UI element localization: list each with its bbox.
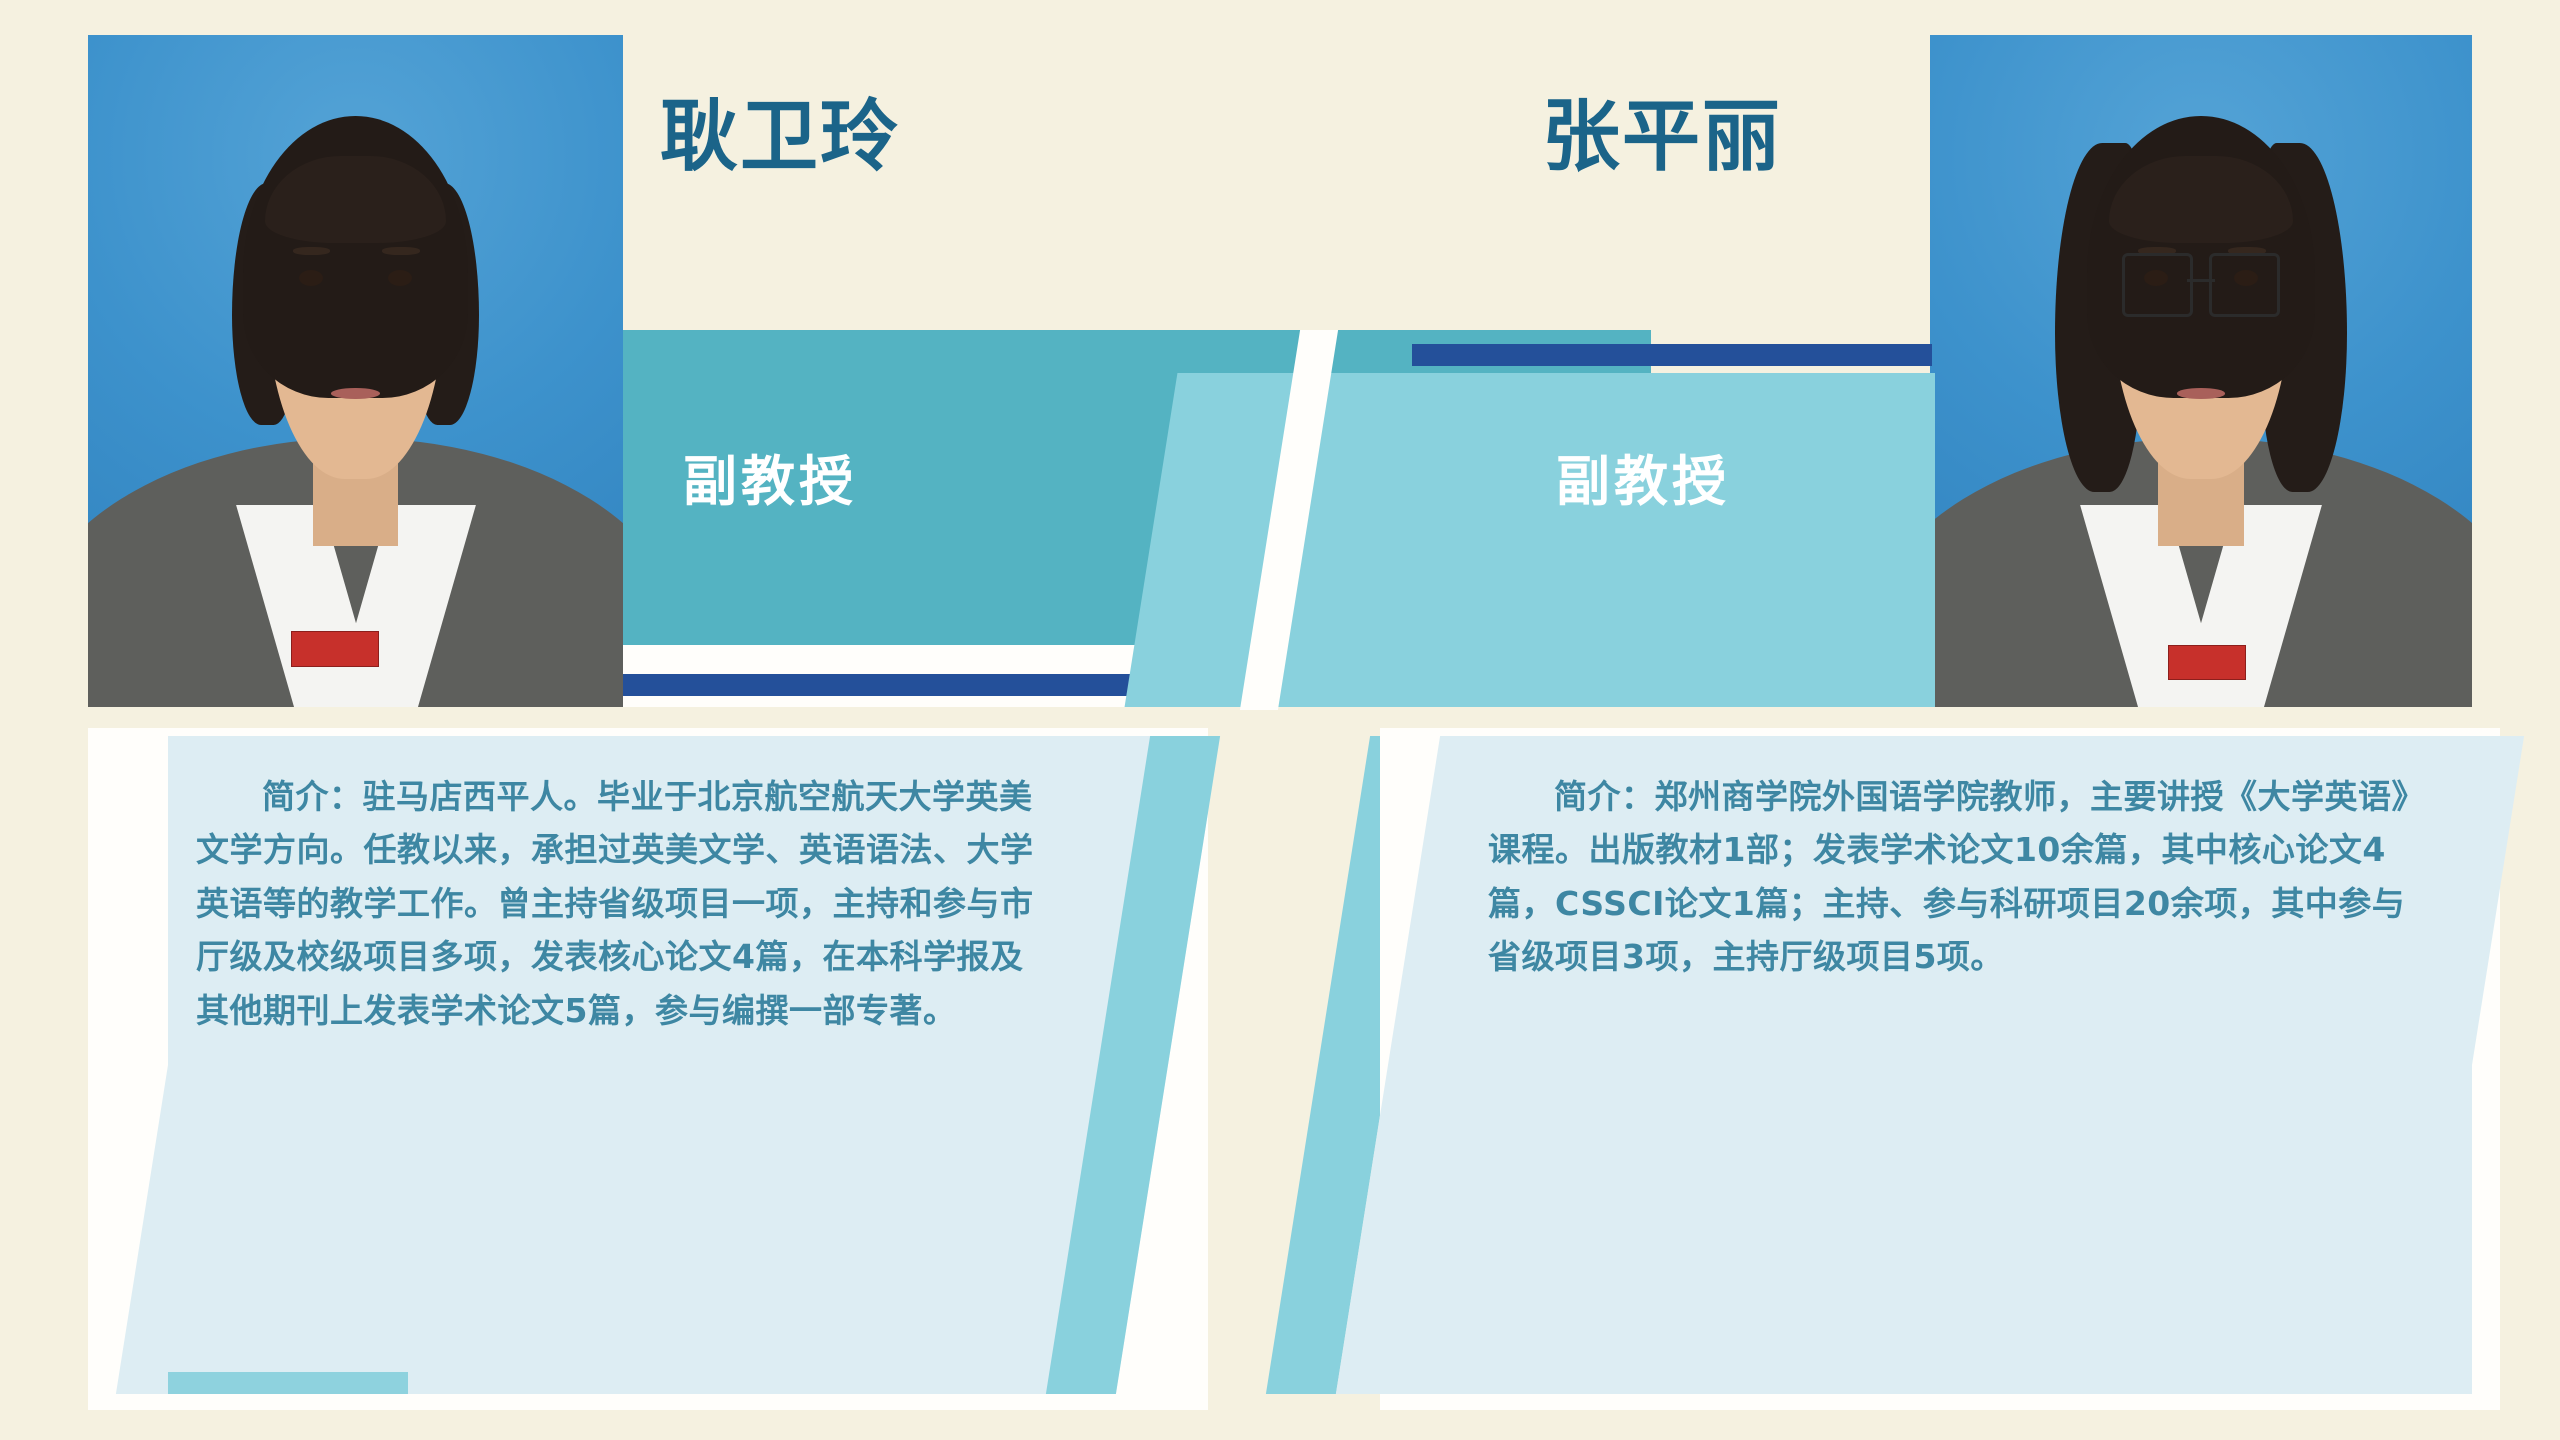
title-plate-right (1345, 373, 1935, 707)
portrait-photo-right (1930, 35, 2472, 707)
accent-bar-right (1412, 344, 1932, 366)
photo-name-badge-left (291, 631, 379, 667)
profile-name-left: 耿卫玲 (660, 98, 900, 176)
photo-eye-right-left (388, 270, 412, 286)
photo-brow-right-left (382, 247, 419, 256)
portrait-photo-left (88, 35, 623, 707)
glasses-bridge (2187, 279, 2215, 282)
profile-title-right: 副教授 (1556, 455, 1730, 509)
photo-mouth-right (2177, 388, 2226, 399)
profile-bio-left: 简介：驻马店西平人。毕业于北京航空航天大学英美文学方向。任教以来，承担过英美文学… (196, 770, 1056, 1037)
description-card-tab-left (168, 1372, 408, 1394)
glasses-lens-right (2209, 253, 2279, 316)
photo-name-badge-right (2168, 645, 2246, 681)
profile-title-left: 副教授 (683, 455, 857, 509)
slide-canvas: 耿卫玲 副教授 简介：驻马店西平人。毕业于北京航空航天大学英美文学方向。任教以来… (0, 0, 2560, 1440)
photo-mouth-left (331, 388, 379, 399)
photo-brow-left (293, 247, 330, 256)
glasses-lens-left (2122, 253, 2192, 316)
profile-name-right: 张平丽 (1542, 98, 1782, 176)
profile-bio-right: 简介：郑州商学院外国语学院教师，主要讲授《大学英语》课程。出版教材1部；发表学术… (1488, 770, 2418, 984)
photo-glasses-right (2122, 253, 2279, 310)
